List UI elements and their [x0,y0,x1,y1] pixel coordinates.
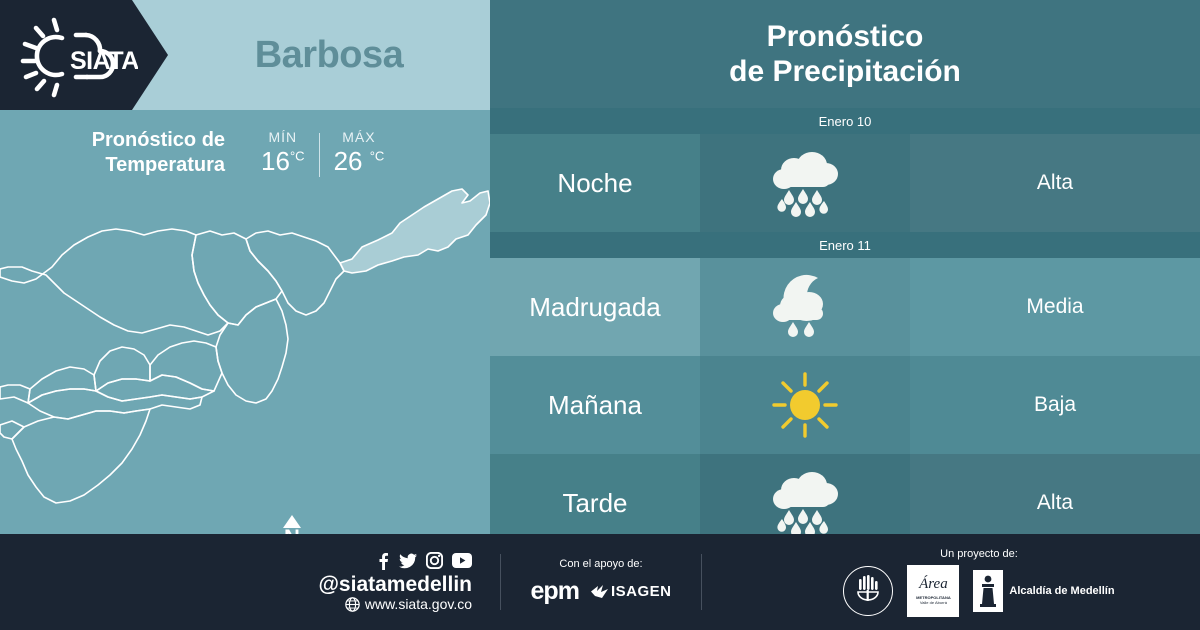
instagram-icon[interactable] [426,552,443,569]
forecast-period-noche: Noche [490,134,700,232]
left-panel: SIATA Barbosa Pronóstico de Temperatura … [0,0,490,534]
forecast-row-madrugada[interactable]: Madrugada Media [490,258,1200,356]
website-url: www.siata.gov.co [365,596,472,613]
temperature-max-label: MÁX [334,129,385,145]
map-region-girardota [246,231,344,315]
rain-cloud-icon [767,149,843,217]
twitter-icon[interactable] [399,552,417,570]
temperature-title-line1: Pronóstico de [92,128,225,153]
alcaldia-logo[interactable]: Alcaldía de Medellín [973,570,1114,612]
map-region-bello [0,229,228,335]
right-panel: Pronóstico de Precipitación Enero 10 Noc… [490,0,1200,534]
social-icons [376,552,472,570]
facebook-icon[interactable] [376,552,390,570]
temperature-min: MÍN 16°C [247,129,319,177]
forecast-icon-cell-noche [700,134,910,232]
temperature-values: MÍN 16°C MÁX 26 °C [247,129,398,177]
rain-cloud-icon [767,469,843,537]
temperature-min-value-group: 16°C [261,146,305,177]
temperature-min-value: 16 [261,146,290,176]
amva-signature: Área [919,577,948,592]
sun-cloud-icon: SIATA [10,13,138,99]
map-region-itagui [94,347,150,391]
forecast-probability-noche: Alta [910,134,1200,232]
forecast-probability-madrugada: Media [910,258,1200,356]
temperature-max-unit: °C [370,148,385,163]
forecast-icon-cell-manana [700,356,910,454]
epm-logo[interactable]: epm [531,577,579,606]
map-region-barbosa [340,189,490,273]
map-region-envigado [150,341,222,391]
map-svg [0,185,490,534]
map-region-west-lower [0,421,24,439]
youtube-icon[interactable] [452,553,472,568]
footer-project-block: Un proyecto de: [702,548,1200,617]
support-logos: epm ISAGEN [531,577,672,606]
map-region-copacabana [192,231,282,325]
temperature-block: Pronóstico de Temperatura MÍN 16°C MÁX 2… [0,118,490,188]
precipitation-title: Pronóstico de Precipitación [490,0,1200,108]
forecast-period-manana: Mañana [490,356,700,454]
map-region-caldas-south [12,409,150,503]
aburra-valley-map[interactable]: N [0,185,490,534]
udea-seal-logo[interactable] [843,566,893,616]
footer: @siatamedellin www.siata.gov.co Con el a… [0,534,1200,630]
alcaldia-mark-icon [973,570,1003,612]
sun-icon [770,370,840,440]
temperature-max-value: 26 [334,146,363,176]
alcaldia-label: Alcaldía de Medellín [1009,585,1114,597]
forecast-row-manana[interactable]: Mañana [490,356,1200,454]
forecast-icon-cell-madrugada [700,258,910,356]
website-row[interactable]: www.siata.gov.co [345,596,472,613]
map-region-sabaneta [96,375,214,401]
temperature-title-line2: Temperatura [92,153,225,178]
svg-text:SIATA: SIATA [70,47,138,75]
forecast-rows: Enero 10 Noche [490,108,1200,552]
footer-social-block: @siatamedellin www.siata.gov.co [0,552,500,613]
amva-line2: Valle de Aburrá [920,600,947,605]
map-region-west-edge [0,385,30,403]
map-region-medellin [216,299,288,403]
moon-cloud-rain-icon [769,274,841,340]
isagen-logo[interactable]: ISAGEN [591,583,672,600]
map-region-caldas [28,389,202,419]
forecast-probability-manana: Baja [910,356,1200,454]
temperature-max: MÁX 26 °C [320,129,399,177]
temperature-min-label: MÍN [261,129,305,145]
forecast-period-madrugada: Madrugada [490,258,700,356]
udea-hand-icon [853,575,883,607]
project-logos: Área METROPOLITANA Valle de Aburrá [843,565,1114,617]
precipitation-title-line2: de Precipitación [729,54,961,89]
temperature-title: Pronóstico de Temperatura [92,128,225,178]
alcaldia-monument-icon [977,574,999,608]
isagen-wordmark: ISAGEN [611,583,672,600]
temperature-min-unit: °C [290,148,305,163]
weather-forecast-infographic: SIATA Barbosa Pronóstico de Temperatura … [0,0,1200,630]
globe-icon [345,597,360,612]
date-band-enero-11: Enero 11 [490,232,1200,258]
support-caption: Con el apoyo de: [559,558,642,570]
precipitation-title-line1: Pronóstico [767,19,924,54]
forecast-row-noche[interactable]: Noche [490,134,1200,232]
project-caption: Un proyecto de: [940,548,1018,560]
isagen-mark-icon [591,585,608,598]
temperature-max-value-group: 26 °C [334,146,385,177]
area-metropolitana-logo[interactable]: Área METROPOLITANA Valle de Aburrá [907,565,959,617]
city-title: Barbosa [168,0,490,110]
date-band-enero-10: Enero 10 [490,108,1200,134]
social-handle[interactable]: @siatamedellin [318,573,472,596]
footer-support-block: Con el apoyo de: epm ISAGEN [501,558,701,606]
